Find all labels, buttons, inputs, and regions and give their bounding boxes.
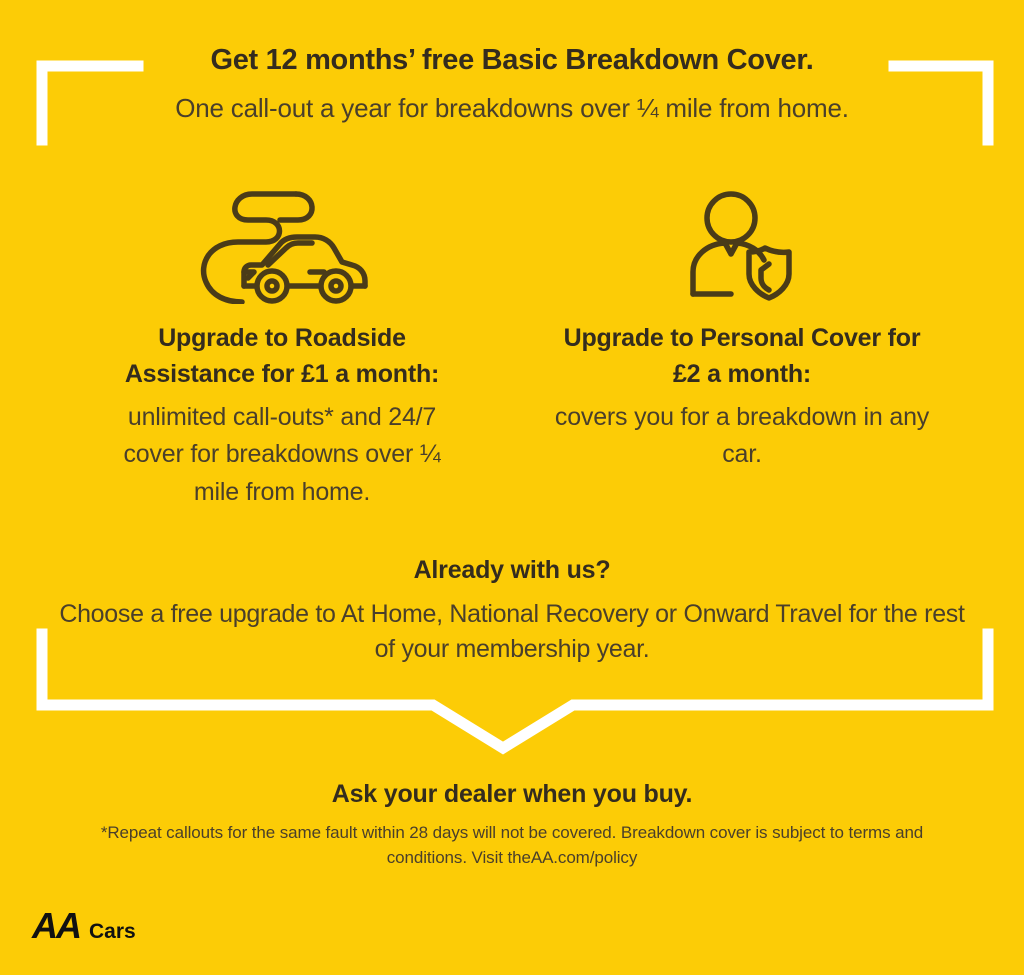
footer: Ask your dealer when you buy. *Repeat ca… bbox=[0, 780, 1024, 870]
subheadline: One call-out a year for breakdowns over … bbox=[0, 92, 1024, 126]
upgrade-title-roadside: Upgrade to Roadside Assistance for £1 a … bbox=[64, 320, 500, 393]
upgrade-column-personal: Upgrade to Personal Cover for £2 a month… bbox=[512, 186, 972, 474]
header: Get 12 months’ free Basic Breakdown Cove… bbox=[0, 42, 1024, 126]
person-with-shield-icon bbox=[524, 186, 960, 304]
upgrade-columns: Upgrade to Roadside Assistance for £1 a … bbox=[0, 186, 1024, 511]
already-with-us-body: Choose a free upgrade to At Home, Nation… bbox=[57, 597, 967, 667]
upgrade-title-personal: Upgrade to Personal Cover for £2 a month… bbox=[524, 320, 960, 393]
footer-call-to-action: Ask your dealer when you buy. bbox=[0, 780, 1024, 809]
upgrade-body-roadside: unlimited call-outs* and 24/7 cover for … bbox=[64, 399, 500, 512]
already-with-us-title: Already with us? bbox=[0, 556, 1024, 585]
aa-logo-mark: AA bbox=[32, 908, 80, 944]
headline: Get 12 months’ free Basic Breakdown Cove… bbox=[0, 42, 1024, 78]
upgrade-body-personal: covers you for a breakdown in any car. bbox=[524, 399, 960, 474]
car-on-winding-road-icon bbox=[64, 186, 500, 304]
aa-cars-logo: AA Cars bbox=[32, 908, 136, 944]
upgrade-column-roadside: Upgrade to Roadside Assistance for £1 a … bbox=[52, 186, 512, 511]
promo-poster: Get 12 months’ free Basic Breakdown Cove… bbox=[0, 0, 1024, 975]
footer-terms-text: *Repeat callouts for the same fault with… bbox=[62, 821, 962, 870]
already-with-us-section: Already with us? Choose a free upgrade t… bbox=[0, 556, 1024, 667]
aa-logo-wordmark: Cars bbox=[89, 921, 136, 942]
